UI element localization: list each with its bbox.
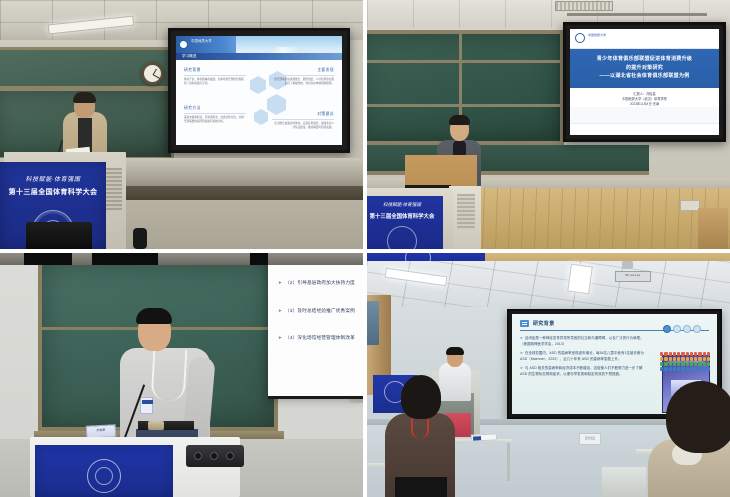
- slide-bullet: ➤与 ASD 相关的患病率和经济成本不断增加，这促使人们不断努力进一步了解 AS…: [520, 366, 648, 377]
- speaker-belt: [138, 421, 194, 430]
- bullet-text: 自闭症是一种神经发育异常所导致的社交和沟通障碍，以及广泛的行为局限。（美国精神医…: [520, 336, 644, 346]
- column-heading: 对策建议: [272, 112, 334, 117]
- projection-screen: ➤（2）引导基层政府加大扶持力度 ➤（3）及时总结经验推广优秀案例 ➤（4）深化…: [268, 259, 363, 399]
- slide-bullet: ➤自闭症是一种神经发育异常所导致的社交和沟通障碍，以及广泛的行为局限。（美国精神…: [520, 336, 648, 347]
- wall-sign-text: 安全出口: [580, 437, 600, 441]
- bullet-arrow-icon: ➤: [520, 366, 523, 370]
- podium-grille: [457, 194, 475, 230]
- column-heading: 研究方法: [184, 106, 246, 111]
- heatmap-row: [660, 357, 710, 361]
- column-heading: 主要发现: [272, 68, 334, 73]
- notebook: [471, 433, 497, 441]
- column-body: 采用文献资料法、问卷调查法、访谈法等方法，对俱乐部联盟的运行机制进行系统分析。: [184, 116, 246, 123]
- bullet-text: （4）深化场馆经营管理体制改革: [285, 335, 355, 340]
- desk-leg: [507, 443, 510, 481]
- banner-slogan: 科技赋能·体育强国: [0, 174, 106, 183]
- chair: [602, 467, 646, 497]
- nameplate-text: 刘怡星: [87, 427, 115, 432]
- bullet-text: 在全球范围内，ASD 的患病率呈现逐年增长，每54名儿童中就有1名被诊断为 AS…: [520, 351, 644, 361]
- heatmap-row: [660, 367, 710, 371]
- projection-screen-frame: 中国地质大学 青少年体育俱乐部联盟促进体育消费升级 的提升对策研究 ——以湖北省…: [563, 22, 726, 142]
- slide-column: 主要发现 俱乐部联盟在资源整合、服务供给、人才培养等方面发挥了积极作用，但仍存在…: [272, 68, 334, 85]
- column-body: 俱乐部联盟在资源整合、服务供给、人才培养等方面发挥了积极作用，但仍存在体制机制障…: [272, 78, 334, 85]
- ceiling-vent: [555, 1, 613, 11]
- slide-title-line: ——以湖北省社会体育俱乐部联盟为例: [575, 72, 714, 81]
- wall-sign: 安全出口: [579, 433, 601, 445]
- banner-conference-name: 第十三届全国体育科学大会: [367, 212, 443, 220]
- wall-clock-icon: [141, 62, 164, 85]
- window: [367, 301, 379, 345]
- bullet-text: （3）及时总结经验推广优秀案例: [285, 308, 355, 313]
- console-knob[interactable]: [226, 452, 234, 460]
- slide-bullet: ➤（4）深化场馆经营管理体制改革: [278, 334, 355, 341]
- slide-title-block: 青少年体育俱乐部联盟促进体育消费升级 的提升对策研究 ——以湖北省社会体育俱乐部…: [570, 49, 719, 88]
- projection-screen: 中国地质大学 青少年体育俱乐部联盟促进体育消费升级 的提升对策研究 ——以湖北省…: [570, 29, 719, 135]
- slide-column: 研究背景 体育产业、体育赛事的发展，为体育俱乐部的升级提供了新的机遇与空间。: [184, 68, 246, 85]
- slide-section-header: 研究背景: [520, 320, 709, 331]
- ceiling-light: [567, 264, 593, 295]
- belt-buckle-icon: [148, 421, 164, 430]
- divider: [184, 113, 246, 114]
- screen-rail: [567, 13, 707, 16]
- bullet-arrow-icon: ➤: [278, 280, 282, 285]
- slide-bullet: ➤（3）及时总结经验推广优秀案例: [278, 307, 355, 314]
- slide-title-line: 的提升对策研究: [575, 64, 714, 73]
- slide-nav-bar: 学习概述: [176, 53, 342, 60]
- heatmap-row: [660, 362, 710, 366]
- divider: [272, 75, 334, 76]
- slide-university-name: 中国地质大学: [588, 33, 606, 37]
- section-icon: [520, 320, 529, 327]
- conference-seal-icon: [387, 226, 417, 249]
- audience-member-head: [666, 381, 730, 453]
- audience-member-legs: [395, 477, 447, 497]
- laptop: [26, 222, 92, 249]
- divider: [272, 119, 334, 120]
- wall-socket: [680, 200, 700, 211]
- panel-top-right: 中国地质大学 青少年体育俱乐部联盟促进体育消费升级 的提升对策研究 ——以湖北省…: [367, 0, 730, 249]
- podium-front-panel: [35, 445, 173, 497]
- slide-header: 中国地质大学 学习概述: [176, 36, 342, 60]
- slide-column: 研究方法 采用文献资料法、问卷调查法、访谈法等方法，对俱乐部联盟的运行机制进行系…: [184, 106, 246, 123]
- projection-screen: 中国地质大学 学习概述 研究背景 体育产业、体育赛事的发展，为体育俱乐部的升级提…: [176, 36, 342, 145]
- university-emblem-icon: [87, 459, 121, 493]
- bullet-arrow-icon: ➤: [278, 335, 282, 340]
- slide-body: 研究背景 体育产业、体育赛事的发展，为体育俱乐部的升级提供了新的机遇与空间。 研…: [176, 60, 342, 145]
- audience-member-head: [401, 375, 441, 419]
- slide-body: ➤自闭症是一种神经发育异常所导致的社交和沟通障碍，以及广泛的行为局限。（美国精神…: [512, 331, 717, 378]
- university-logo-icon: [575, 33, 585, 43]
- chair: [698, 208, 728, 249]
- presenter-jacket: [439, 363, 471, 401]
- slide-meta-block: 汇报人：刘怡星 中国地质大学（武汉）体育学院 2023年11月4日·天津: [570, 88, 719, 107]
- column-heading: 研究背景: [184, 68, 246, 73]
- heatmap-row: [660, 352, 710, 356]
- date-place: 2023年11月4日·天津: [570, 102, 719, 107]
- bullet-arrow-icon: ➤: [520, 351, 523, 355]
- banner-slogan: 科技赋能·体育强国: [367, 202, 443, 208]
- projector-label: Wireless: [616, 273, 650, 277]
- slide-university-name: 中国地质大学: [191, 39, 212, 44]
- console-knob[interactable]: [210, 452, 218, 460]
- slide-column: 对策建议 应当健全政策支持体系、完善标准规范、加强专业人才队伍建设，推动联盟可持…: [272, 112, 334, 129]
- speaker-badge: [140, 397, 153, 414]
- slide-bullet: ➤（2）引导基层政府加大扶持力度: [278, 279, 355, 286]
- speaker-lanyard: [151, 348, 188, 402]
- speaker-hair: [73, 92, 96, 103]
- podium-console: [186, 445, 244, 467]
- presenter-hair: [446, 347, 464, 355]
- speaker-hair: [136, 308, 172, 324]
- bullet-arrow-icon: ➤: [278, 308, 282, 313]
- speaker-hair: [449, 115, 470, 125]
- bullet-text: （2）引导基层政府加大扶持力度: [285, 280, 355, 285]
- slide-header: 中国地质大学: [570, 29, 719, 49]
- ceiling: [367, 261, 730, 313]
- banner-conference-name: 第十三届全国体育科学大会: [0, 187, 106, 197]
- desk-microphone-icon: [133, 228, 147, 249]
- photo-collage: 中国地质大学 学习概述 研究背景 体育产业、体育赛事的发展，为体育俱乐部的升级提…: [0, 0, 730, 497]
- slide-title-line: 青少年体育俱乐部联盟促进体育消费升级: [575, 55, 714, 64]
- podium-banner: 科技赋能·体育强国 第十三届全国体育科学大会: [367, 196, 443, 249]
- bullet-text: 与 ASD 相关的患病率和经济成本不断增加，这促使人们不断努力进一步了解 ASD…: [520, 366, 643, 376]
- university-logo-icon: [179, 40, 188, 49]
- projector-device: Wireless: [615, 271, 651, 282]
- ceiling-speaker-icon: [622, 261, 633, 269]
- photo-top-edge: [0, 253, 363, 265]
- column-body: 应当健全政策支持体系、完善标准规范、加强专业人才队伍建设，推动联盟可持续发展。: [272, 122, 334, 129]
- panel-top-left: 中国地质大学 学习概述 研究背景 体育产业、体育赛事的发展，为体育俱乐部的升级提…: [0, 0, 363, 249]
- bullet-arrow-icon: ➤: [520, 336, 523, 340]
- heatmap-chart: [660, 352, 710, 370]
- divider: [184, 75, 246, 76]
- console-knob[interactable]: [194, 452, 202, 460]
- projection-screen-frame: 中国地质大学 学习概述 研究背景 体育产业、体育赛事的发展，为体育俱乐部的升级提…: [168, 28, 350, 153]
- column-body: 体育产业、体育赛事的发展，为体育俱乐部的升级提供了新的机遇与空间。: [184, 78, 246, 85]
- panel-bottom-left: ➤（2）引导基层政府加大扶持力度 ➤（3）及时总结经验推广优秀案例 ➤（4）深化…: [0, 253, 363, 497]
- panel-bottom-right: Wireless 研究背景 ➤自闭症是一种神: [367, 253, 730, 497]
- slide-bullet: ➤在全球范围内，ASD 的患病率呈现逐年增长，每54名儿童中就有1名被诊断为 A…: [520, 351, 648, 362]
- slide-footer: [570, 123, 719, 135]
